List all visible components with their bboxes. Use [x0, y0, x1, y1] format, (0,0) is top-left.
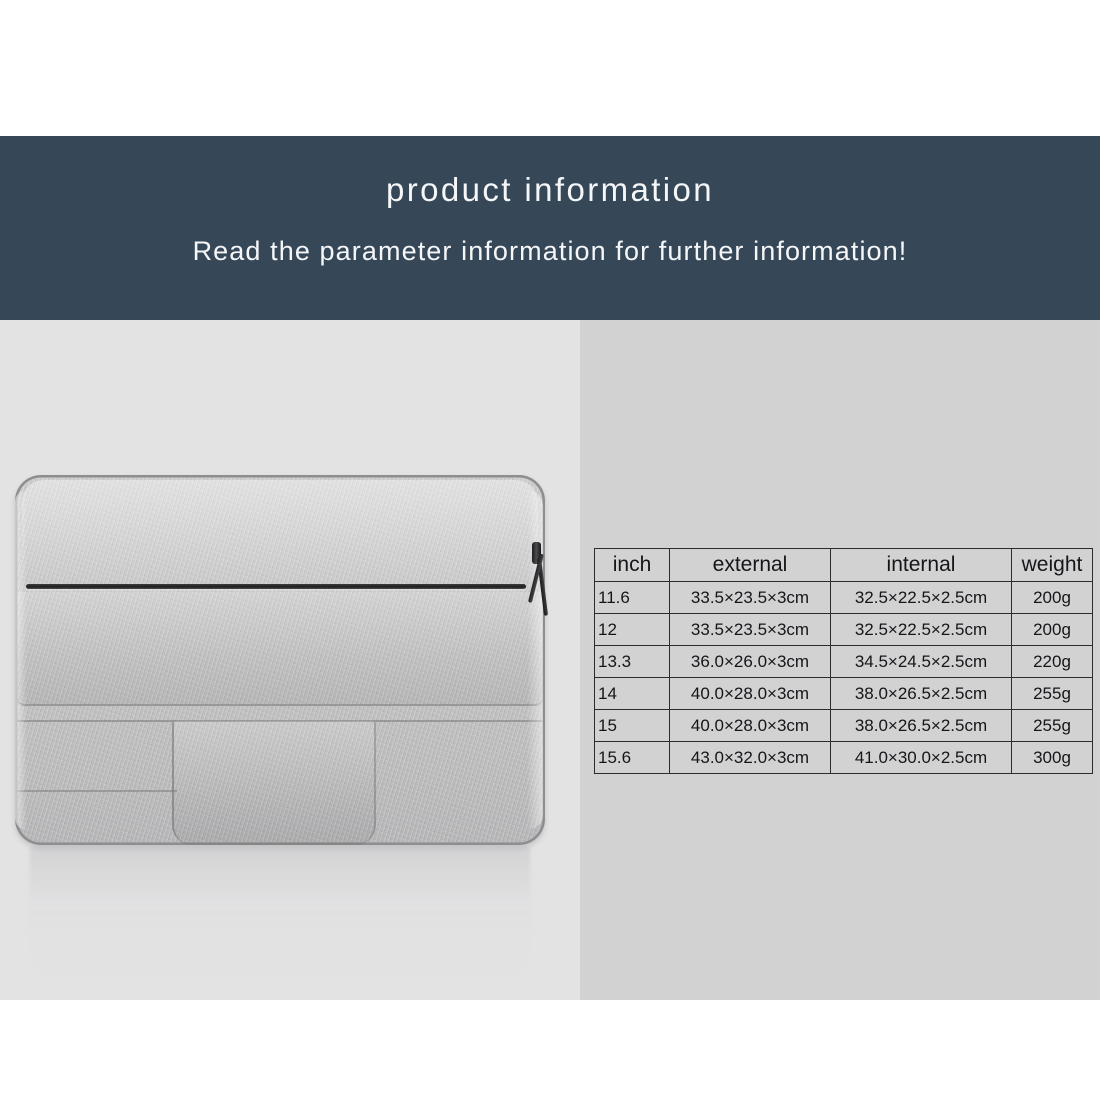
cell-weight: 200g — [1012, 614, 1093, 646]
zipper-pull-icon — [526, 542, 552, 620]
cell-internal: 38.0×26.5×2.5cm — [831, 678, 1012, 710]
table-header-row: inch external internal weight — [595, 549, 1093, 582]
table-row: 11.6 33.5×23.5×3cm 32.5×22.5×2.5cm 200g — [595, 582, 1093, 614]
column-header-internal: internal — [831, 549, 1012, 582]
page-title: product information — [0, 170, 1100, 210]
cell-internal: 41.0×30.0×2.5cm — [831, 742, 1012, 774]
cell-external: 40.0×28.0×3cm — [670, 710, 831, 742]
cell-external: 33.5×23.5×3cm — [670, 582, 831, 614]
cell-inch: 15.6 — [595, 742, 670, 774]
cell-external: 36.0×26.0×3cm — [670, 646, 831, 678]
cell-inch: 14 — [595, 678, 670, 710]
table-row: 15 40.0×28.0×3cm 38.0×26.5×2.5cm 255g — [595, 710, 1093, 742]
spec-table-container: inch external internal weight 11.6 33.5×… — [594, 548, 1088, 774]
cell-internal: 32.5×22.5×2.5cm — [831, 614, 1012, 646]
product-photo — [0, 320, 580, 1000]
cell-inch: 15 — [595, 710, 670, 742]
cell-weight: 255g — [1012, 710, 1093, 742]
bag-mid-seam — [17, 720, 543, 722]
product-information-page: product information Read the parameter i… — [0, 0, 1100, 1100]
cell-weight: 220g — [1012, 646, 1093, 678]
table-row: 15.6 43.0×32.0×3cm 41.0×30.0×2.5cm 300g — [595, 742, 1093, 774]
cell-internal: 34.5×24.5×2.5cm — [831, 646, 1012, 678]
column-header-inch: inch — [595, 549, 670, 582]
zipper-track-icon — [26, 584, 526, 589]
cell-inch: 13.3 — [595, 646, 670, 678]
cell-weight: 300g — [1012, 742, 1093, 774]
cell-external: 33.5×23.5×3cm — [670, 614, 831, 646]
cell-internal: 38.0×26.5×2.5cm — [831, 710, 1012, 742]
cell-internal: 32.5×22.5×2.5cm — [831, 582, 1012, 614]
header-banner: product information Read the parameter i… — [0, 136, 1100, 320]
specification-table: inch external internal weight 11.6 33.5×… — [594, 548, 1093, 774]
cell-inch: 11.6 — [595, 582, 670, 614]
cell-weight: 255g — [1012, 678, 1093, 710]
cell-inch: 12 — [595, 614, 670, 646]
column-header-weight: weight — [1012, 549, 1093, 582]
bag-reflection — [30, 847, 530, 977]
cell-external: 40.0×28.0×3cm — [670, 678, 831, 710]
bag-lower-seam — [17, 790, 177, 792]
table-row: 13.3 36.0×26.0×3cm 34.5×24.5×2.5cm 220g — [595, 646, 1093, 678]
table-row: 12 33.5×23.5×3cm 32.5×22.5×2.5cm 200g — [595, 614, 1093, 646]
cell-external: 43.0×32.0×3cm — [670, 742, 831, 774]
cell-weight: 200g — [1012, 582, 1093, 614]
column-header-external: external — [670, 549, 831, 582]
table-row: 14 40.0×28.0×3cm 38.0×26.5×2.5cm 255g — [595, 678, 1093, 710]
page-subtitle: Read the parameter information for furth… — [0, 234, 1100, 268]
